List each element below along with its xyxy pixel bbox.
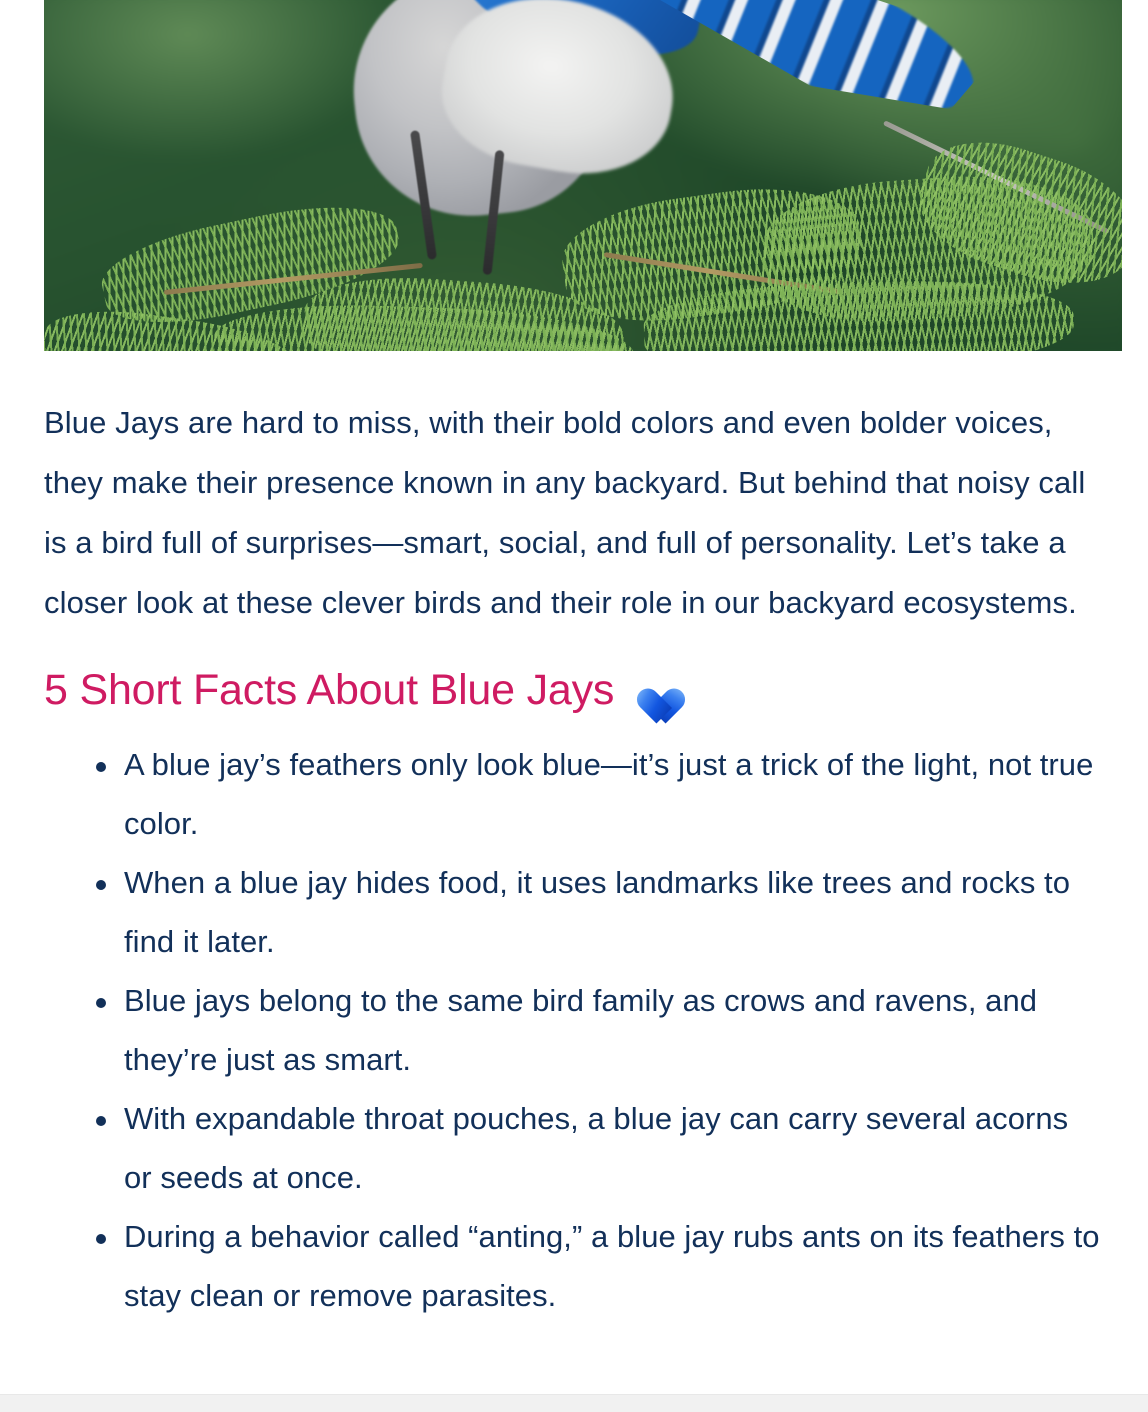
list-item: With expandable throat pouches, a blue j… [96,1089,1104,1207]
section-heading-text: 5 Short Facts About Blue Jays [44,661,614,719]
list-item: Blue jays belong to the same bird family… [96,971,1104,1089]
page-bottom-bar [0,1394,1148,1412]
hero-image [44,0,1122,351]
article-content: Blue Jays are hard to miss, with their b… [0,351,1148,1325]
blue-jay-subject [324,0,924,280]
list-item: When a blue jay hides food, it uses land… [96,853,1104,971]
blue-heart-icon [630,672,672,712]
facts-list: A blue jay’s feathers only look blue—it’… [0,719,1148,1325]
article-page: Blue Jays are hard to miss, with their b… [0,0,1148,1412]
section-heading: 5 Short Facts About Blue Jays [0,633,1148,719]
list-item: A blue jay’s feathers only look blue—it’… [96,735,1104,853]
hero-photo-canvas [44,0,1122,351]
list-item: During a behavior called “anting,” a blu… [96,1207,1104,1325]
lead-paragraph: Blue Jays are hard to miss, with their b… [0,351,1148,633]
